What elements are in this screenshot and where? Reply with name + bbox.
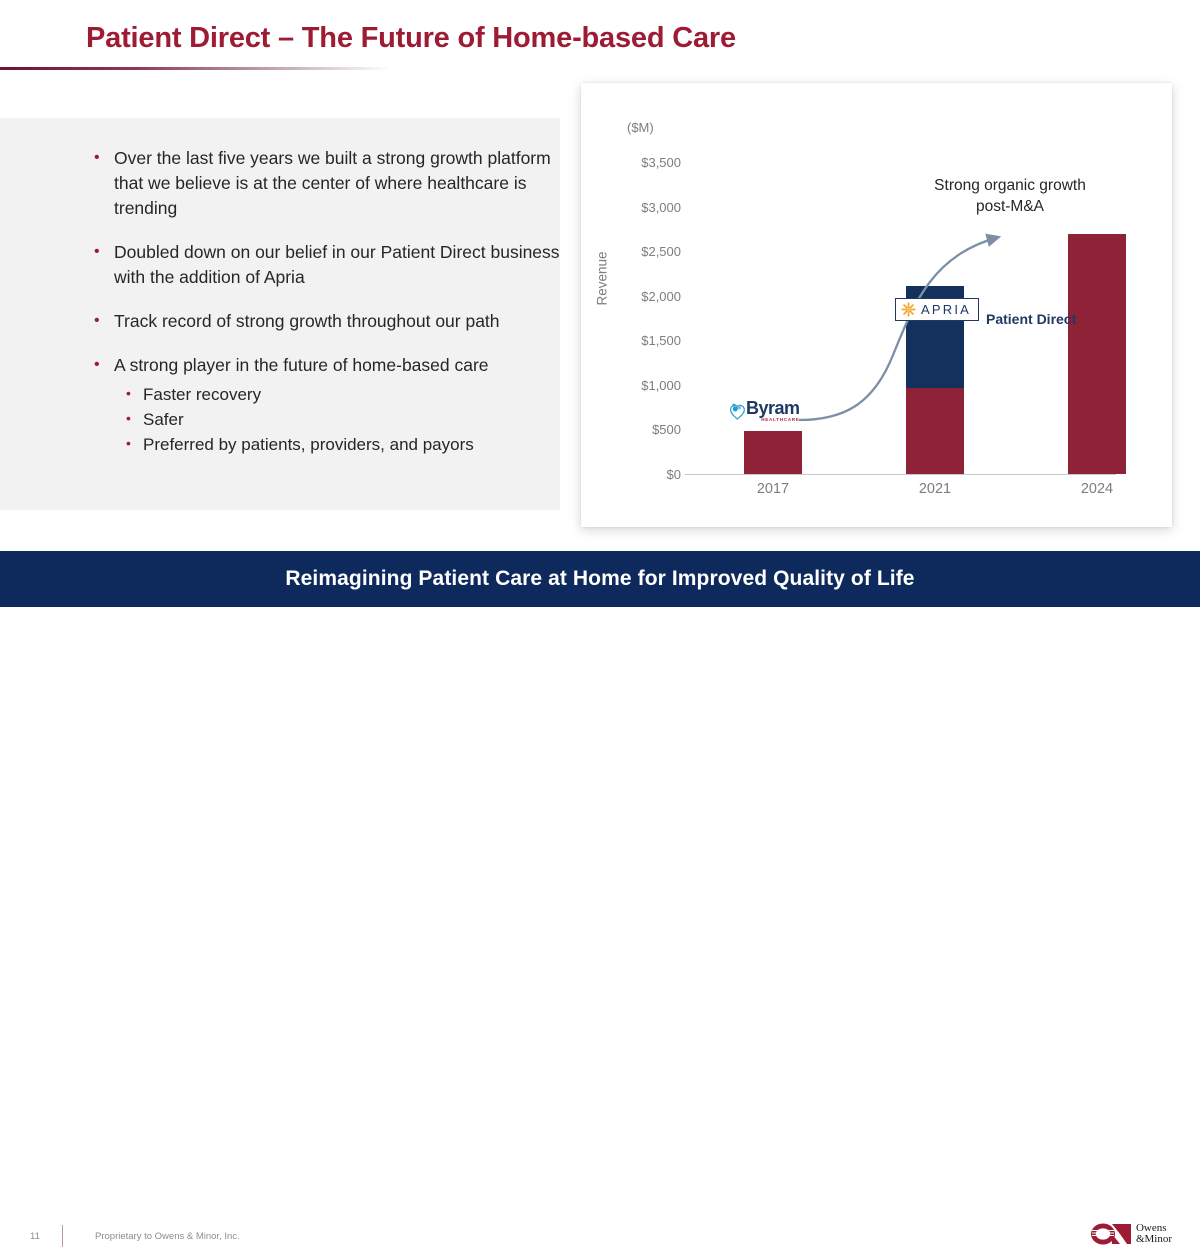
y-axis-tick-label: $3,500 bbox=[611, 156, 681, 169]
y-axis-tick-label: $2,000 bbox=[611, 290, 681, 303]
om-line-2: &Minor bbox=[1136, 1234, 1172, 1246]
byram-heart-icon bbox=[730, 402, 745, 420]
y-axis-tick-label: $2,500 bbox=[611, 245, 681, 258]
sub-bullet-text: Safer bbox=[143, 410, 184, 429]
footer: 11 Proprietary to Owens & Minor, Inc. Ow… bbox=[0, 607, 1200, 675]
page-title: Patient Direct – The Future of Home-base… bbox=[86, 22, 736, 55]
bullet-text: Track record of strong growth throughout… bbox=[114, 311, 500, 331]
x-axis-line bbox=[685, 474, 1116, 475]
x-axis-tick-label: 2021 bbox=[875, 481, 995, 497]
bullet-item: Doubled down on our belief in our Patien… bbox=[88, 240, 568, 290]
om-wordmark: Owens &Minor bbox=[1136, 1223, 1172, 1246]
bullet-item: Over the last five years we built a stro… bbox=[88, 146, 568, 221]
bullet-item: Track record of strong growth throughout… bbox=[88, 309, 568, 334]
patient-direct-label: Patient Direct bbox=[986, 311, 1076, 327]
bullet-list: Over the last five years we built a stro… bbox=[88, 146, 568, 476]
owens-minor-logo: Owens &Minor bbox=[1090, 1220, 1172, 1248]
sub-bullet-list: Faster recovery Safer Preferred by patie… bbox=[114, 382, 568, 457]
banner-text: Reimagining Patient Care at Home for Imp… bbox=[285, 567, 914, 591]
apria-star-icon bbox=[901, 302, 916, 317]
growth-annotation: Strong organic growth post-M&A bbox=[905, 175, 1115, 217]
byram-logo: Byram HEALTHCARE bbox=[730, 400, 800, 422]
bullet-text: Over the last five years we built a stro… bbox=[114, 148, 551, 218]
footer-divider bbox=[62, 1225, 63, 1247]
bar-segment bbox=[744, 431, 802, 474]
x-axis-tick-label: 2017 bbox=[713, 481, 833, 497]
footer-note: Proprietary to Owens & Minor, Inc. bbox=[95, 1231, 240, 1242]
annotation-line-2: post-M&A bbox=[905, 196, 1115, 217]
y-axis-tick-label: $1,000 bbox=[611, 379, 681, 392]
sub-bullet-item: Preferred by patients, providers, and pa… bbox=[114, 432, 568, 457]
y-axis-tick-label: $0 bbox=[611, 468, 681, 481]
sub-bullet-text: Preferred by patients, providers, and pa… bbox=[143, 435, 474, 454]
y-axis-tick-label: $3,000 bbox=[611, 201, 681, 214]
bullet-text: A strong player in the future of home-ba… bbox=[114, 355, 489, 375]
bullet-text: Doubled down on our belief in our Patien… bbox=[114, 242, 560, 287]
bullet-item: A strong player in the future of home-ba… bbox=[88, 353, 568, 457]
apria-logo-badge: APRIA bbox=[895, 298, 979, 321]
sub-bullet-text: Faster recovery bbox=[143, 385, 261, 404]
chart-card: ($M) Revenue $0$500$1,000$1,500$2,000$2,… bbox=[581, 83, 1172, 527]
om-mark-icon bbox=[1090, 1220, 1132, 1248]
annotation-line-1: Strong organic growth bbox=[905, 175, 1115, 196]
bar-segment bbox=[906, 388, 964, 474]
om-line-1: Owens bbox=[1136, 1223, 1172, 1235]
page-number: 11 bbox=[30, 1231, 40, 1242]
sub-bullet-item: Faster recovery bbox=[114, 382, 568, 407]
byram-wordmark: Byram bbox=[746, 400, 800, 416]
y-axis-tick-label: $500 bbox=[611, 423, 681, 436]
bottom-banner: Reimagining Patient Care at Home for Imp… bbox=[0, 551, 1200, 607]
sub-bullet-item: Safer bbox=[114, 407, 568, 432]
title-underline-rule bbox=[0, 67, 390, 70]
x-axis-tick-label: 2024 bbox=[1037, 481, 1157, 497]
apria-wordmark: APRIA bbox=[921, 303, 971, 316]
y-axis-ticks: $0$500$1,000$1,500$2,000$2,500$3,000$3,5… bbox=[605, 83, 681, 527]
y-axis-tick-label: $1,500 bbox=[611, 334, 681, 347]
bar-segment bbox=[1068, 234, 1126, 474]
